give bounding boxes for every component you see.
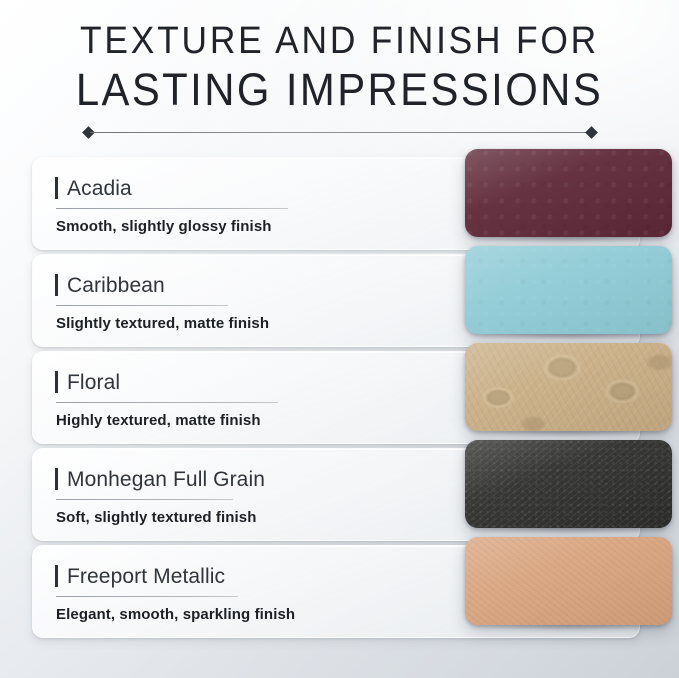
finish-list: Acadia Smooth, slightly glossy finish Ca… [0,157,679,638]
color-swatch-floral [465,343,672,431]
finish-name: Floral [67,371,120,395]
poster-header: TEXTURE AND FINISH FOR LASTING IMPRESSIO… [0,0,679,139]
name-underline [56,305,228,306]
color-swatch-monhegan-full-grain [465,440,672,528]
card-text-block: Monhegan Full Grain Soft, slightly textu… [55,468,455,526]
finish-name: Freeport Metallic [67,565,225,589]
swatch-sheen [465,246,672,334]
finish-name-row: Freeport Metallic [55,565,455,589]
finish-name: Monhegan Full Grain [67,468,265,492]
finish-name-row: Monhegan Full Grain [55,468,455,492]
finish-name-row: Floral [55,371,455,395]
accent-tick-icon [55,468,58,490]
name-underline [56,499,233,500]
color-swatch-caribbean [465,246,672,334]
accent-tick-icon [55,274,58,296]
list-item: Acadia Smooth, slightly glossy finish [32,157,649,250]
accent-tick-icon [55,177,58,199]
swatch-sheen [465,149,672,237]
card-text-block: Acadia Smooth, slightly glossy finish [55,177,455,235]
finish-description: Highly textured, matte finish [56,412,455,429]
finish-name-row: Caribbean [55,274,455,298]
card-text-block: Floral Highly textured, matte finish [55,371,455,429]
finish-name-row: Acadia [55,177,455,201]
finish-description: Slightly textured, matte finish [56,315,455,332]
name-underline [56,596,238,597]
finish-name: Caribbean [67,274,165,298]
card-text-block: Caribbean Slightly textured, matte finis… [55,274,455,332]
swatch-sheen [465,440,672,528]
divider-rule [90,132,590,133]
list-item: Floral Highly textured, matte finish [32,351,649,444]
swatch-sheen [465,537,672,625]
list-item: Monhegan Full Grain Soft, slightly textu… [32,448,649,541]
finish-description: Elegant, smooth, sparkling finish [56,606,455,623]
accent-tick-icon [55,371,58,393]
name-underline [56,402,278,403]
name-underline [56,208,288,209]
finish-description: Soft, slightly textured finish [56,509,455,526]
finish-name: Acadia [67,177,132,201]
card-text-block: Freeport Metallic Elegant, smooth, spark… [55,565,455,623]
color-swatch-freeport-metallic [465,537,672,625]
title-line-2: LASTING IMPRESSIONS [24,67,655,113]
title-line-1: TEXTURE AND FINISH FOR [24,22,655,61]
infographic-poster: TEXTURE AND FINISH FOR LASTING IMPRESSIO… [0,0,679,678]
list-item: Caribbean Slightly textured, matte finis… [32,254,649,347]
diamond-right-icon [585,126,598,139]
color-swatch-acadia [465,149,672,237]
swatch-sheen [465,343,672,431]
decorative-divider [84,127,596,139]
finish-description: Smooth, slightly glossy finish [56,218,455,235]
list-item: Freeport Metallic Elegant, smooth, spark… [32,545,649,638]
accent-tick-icon [55,565,58,587]
